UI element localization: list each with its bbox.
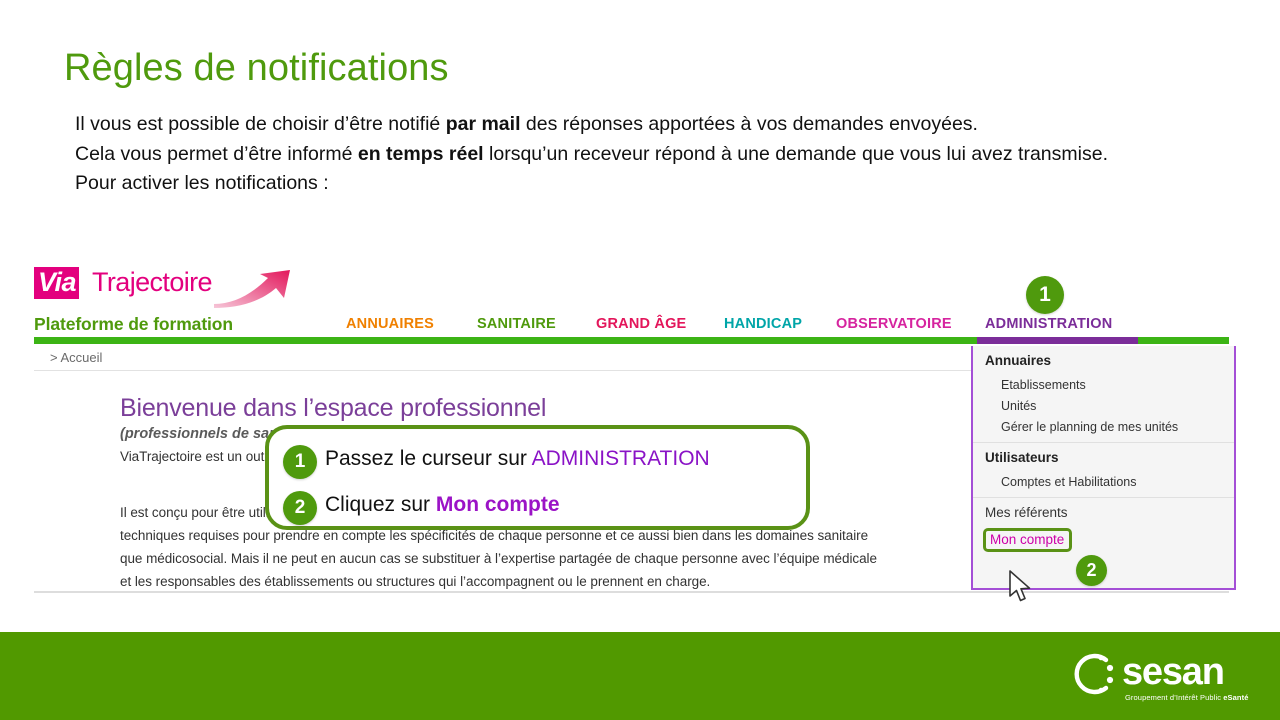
sesan-tagline-b: eSanté [1223, 693, 1248, 702]
intro-bold-par-mail: par mail [446, 113, 521, 135]
footer-bar: sesan Groupement d’Intérêt Public eSanté [0, 632, 1280, 720]
sesan-tagline: Groupement d’Intérêt Public eSanté [1125, 693, 1248, 702]
sesan-wordmark: sesan [1122, 652, 1224, 692]
nav-item-sanitaire[interactable]: SANITAIRE [477, 316, 556, 332]
slide-root: Règles de notifications Il vous est poss… [0, 0, 1280, 720]
sesan-mark-icon [1070, 650, 1118, 698]
logo-subtitle: Plateforme de formation [34, 314, 233, 335]
callout-step-1-target: ADMINISTRATION [532, 447, 710, 470]
welcome-heading: Bienvenue dans l’espace professionnel [120, 394, 546, 423]
dropdown-group-annuaires-title: Annuaires [973, 346, 1234, 374]
logo-via-text: Via [34, 267, 79, 299]
sesan-logo: sesan Groupement d’Intérêt Public eSanté [1070, 650, 1250, 706]
dropdown-item-etablissements[interactable]: Etablissements [973, 374, 1234, 395]
step-badge-2-mon-compte: 2 [1076, 555, 1107, 586]
instruction-callout: 1 Passez le curseur sur ADMINISTRATION 2… [265, 425, 810, 530]
breadcrumb[interactable]: > Accueil [50, 350, 102, 365]
dropdown-item-mon-compte[interactable]: Mon compte [983, 528, 1072, 552]
viatrajectoire-logo: Via Trajectoire [34, 264, 294, 308]
callout-step-1: Passez le curseur sur ADMINISTRATION [325, 447, 710, 471]
intro-line-3: Pour activer les notifications : [75, 169, 1205, 199]
dropdown-group-utilisateurs-title: Utilisateurs [973, 443, 1234, 471]
dropdown-mon-compte-row: Mon compte [973, 526, 1234, 552]
nav-item-handicap[interactable]: HANDICAP [724, 316, 802, 332]
intro-line-1-a: Il vous est possible de choisir d’être n… [75, 113, 446, 135]
intro-paragraph: Il vous est possible de choisir d’être n… [75, 110, 1205, 199]
intro-line-2-c: lorsqu’un receveur répond à une demande … [484, 143, 1108, 165]
callout-step-1-text: Passez le curseur sur [325, 447, 532, 470]
content-bottom-rule [34, 591, 1229, 593]
page-title: Règles de notifications [64, 42, 449, 94]
intro-line-2: Cela vous permet d’être informé en temps… [75, 140, 1205, 170]
nav-item-annuaires[interactable]: ANNUAIRES [346, 316, 434, 332]
intro-bold-temps-reel: en temps réel [358, 143, 484, 165]
intro-line-1-c: des réponses apportées à vos demandes en… [521, 113, 978, 135]
step-badge-1-admin: 1 [1026, 276, 1064, 314]
nav-item-grand-age[interactable]: GRAND ÂGE [596, 316, 686, 332]
dropdown-item-gerer-planning[interactable]: Gérer le planning de mes unités [973, 416, 1234, 437]
dropdown-item-unites[interactable]: Unités [973, 395, 1234, 416]
main-nav: ANNUAIRES SANITAIRE GRAND ÂGE HANDICAP O… [346, 316, 1166, 338]
administration-dropdown: Annuaires Etablissements Unités Gérer le… [971, 346, 1236, 590]
intro-line-2-a: Cela vous permet d’être informé [75, 143, 358, 165]
logo-trajectoire-text: Trajectoire [92, 267, 212, 297]
nav-active-underline [977, 337, 1138, 344]
sesan-tagline-a: Groupement d’Intérêt Public [1125, 693, 1223, 702]
dropdown-item-comptes-habilitations[interactable]: Comptes et Habilitations [973, 471, 1234, 492]
dropdown-item-mes-referents[interactable]: Mes référents [973, 498, 1234, 526]
mouse-cursor-icon [1008, 570, 1034, 604]
callout-step-2: Cliquez sur Mon compte [325, 493, 560, 517]
nav-item-administration[interactable]: ADMINISTRATION [985, 316, 1112, 332]
intro-line-1: Il vous est possible de choisir d’être n… [75, 110, 1205, 140]
callout-badge-2: 2 [283, 491, 317, 525]
callout-step-2-text: Cliquez sur [325, 493, 436, 516]
callout-step-2-target: Mon compte [436, 493, 560, 516]
logo-arrow-icon [214, 270, 294, 308]
callout-badge-1: 1 [283, 445, 317, 479]
nav-item-observatoire[interactable]: OBSERVATOIRE [836, 316, 952, 332]
